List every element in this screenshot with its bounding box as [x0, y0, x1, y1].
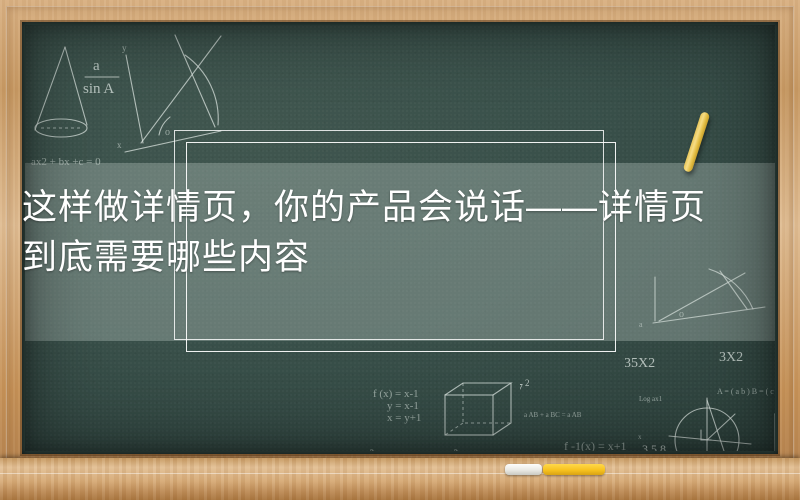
chalkboard-banner: a sin A y x o ax2 + bx +c = 0	[0, 0, 800, 500]
ledge-highlight-line	[0, 473, 800, 474]
chalk-ledge	[0, 458, 800, 500]
ledge-wood-grain	[0, 458, 800, 500]
yellow-chalk-icon	[543, 464, 605, 475]
page-title: 这样做详情页，你的产品会说话——详情页到底需要哪些内容	[22, 183, 782, 283]
white-chalk-icon	[505, 464, 542, 475]
headline-line-1: 这样做详情页，你的产品会说话——详情页	[22, 188, 706, 227]
headline-line-2: 到底需要哪些内容	[22, 238, 310, 277]
